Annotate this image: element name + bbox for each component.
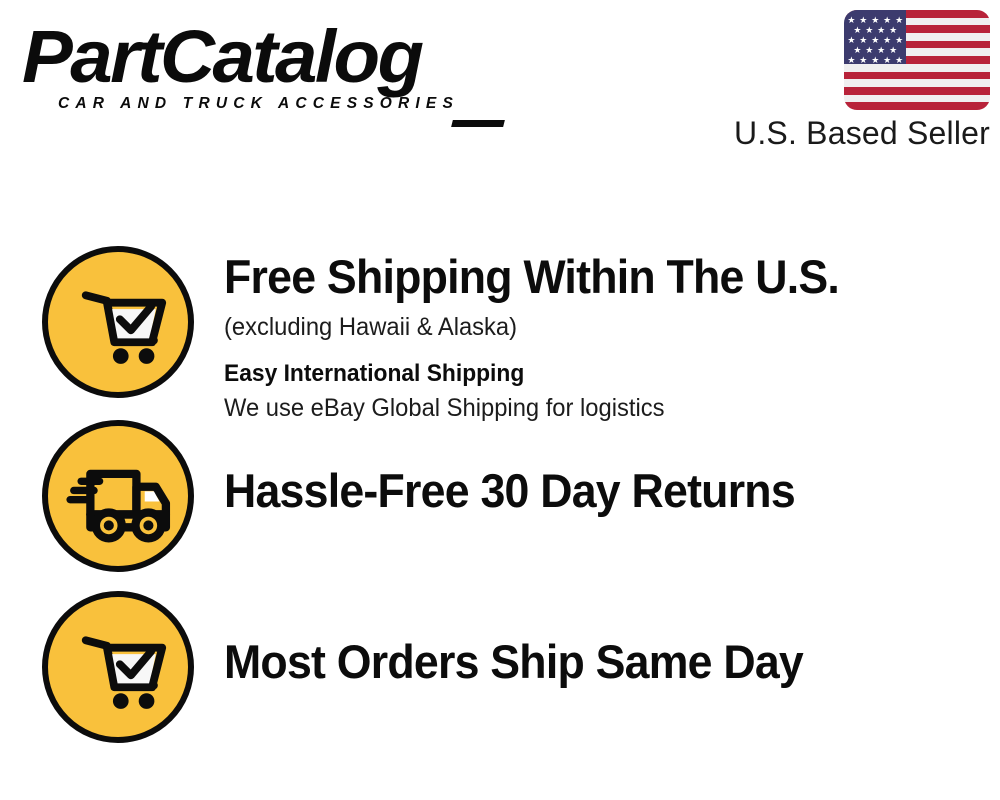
flag-star-icon: ★ (889, 26, 898, 35)
shopping-cart-check-icon (42, 591, 194, 743)
promo-banner: PartCatalog CAR AND TRUCK ACCESSORIES ★★… (0, 0, 1000, 800)
flag-star-icon: ★ (847, 16, 856, 25)
flag-star-icon: ★ (871, 16, 880, 25)
flag-star-icon: ★ (871, 56, 880, 65)
flag-stripe (844, 95, 990, 103)
flag-star-icon: ★ (895, 16, 904, 25)
seller-label: U.S. Based Seller (700, 116, 990, 150)
brand-wordmark: PartCatalog (22, 20, 506, 94)
us-based-seller-block: ★★★★★★★★★★★★★★★★★★★★★★★ U.S. Based Selle… (700, 10, 990, 150)
feature-row: Most Orders Ship Same Day (0, 591, 1000, 743)
tagline-rule (451, 120, 505, 127)
flag-star-icon: ★ (853, 26, 862, 35)
feature-note: (excluding Hawaii & Alaska) (224, 310, 961, 344)
flag-canton: ★★★★★★★★★★★★★★★★★★★★★★★ (844, 10, 906, 64)
flag-star-icon: ★ (889, 46, 898, 55)
flag-star-icon: ★ (883, 16, 892, 25)
flag-star-icon: ★ (865, 46, 874, 55)
flag-star-icon: ★ (883, 56, 892, 65)
flag-star-icon: ★ (883, 36, 892, 45)
flag-star-icon: ★ (853, 46, 862, 55)
flag-star-icon: ★ (859, 56, 868, 65)
feature-title: Free Shipping Within The U.S. (224, 250, 961, 304)
flag-star-icon: ★ (859, 36, 868, 45)
flag-stripe (844, 79, 990, 87)
flag-stripe (844, 72, 990, 80)
brand-logo: PartCatalog CAR AND TRUCK ACCESSORIES (22, 20, 492, 120)
flag-star-icon: ★ (895, 36, 904, 45)
feature-title: Hassle-Free 30 Day Returns (224, 464, 961, 518)
feature-title: Most Orders Ship Same Day (224, 635, 961, 689)
us-flag-icon: ★★★★★★★★★★★★★★★★★★★★★★★ (844, 10, 990, 110)
flag-star-icon: ★ (847, 56, 856, 65)
flag-star-icon: ★ (877, 46, 886, 55)
flag-stripe (844, 102, 990, 110)
flag-star-icon: ★ (859, 16, 868, 25)
feature-text: Hassle-Free 30 Day Returns (224, 420, 1000, 518)
delivery-truck-icon (42, 420, 194, 572)
shopping-cart-check-icon (42, 246, 194, 398)
flag-star-icon: ★ (871, 36, 880, 45)
feature-text: Free Shipping Within The U.S. (excluding… (224, 246, 1000, 425)
flag-stripe (844, 87, 990, 95)
feature-text: Most Orders Ship Same Day (224, 591, 1000, 689)
feature-row: Hassle-Free 30 Day Returns (0, 420, 1000, 572)
flag-star-icon: ★ (895, 56, 904, 65)
flag-star-icon: ★ (877, 26, 886, 35)
flag-star-icon: ★ (865, 26, 874, 35)
flag-star-icon: ★ (847, 36, 856, 45)
feature-subtitle-strong: Easy International Shipping (224, 358, 961, 390)
feature-row: Free Shipping Within The U.S. (excluding… (0, 246, 1000, 425)
